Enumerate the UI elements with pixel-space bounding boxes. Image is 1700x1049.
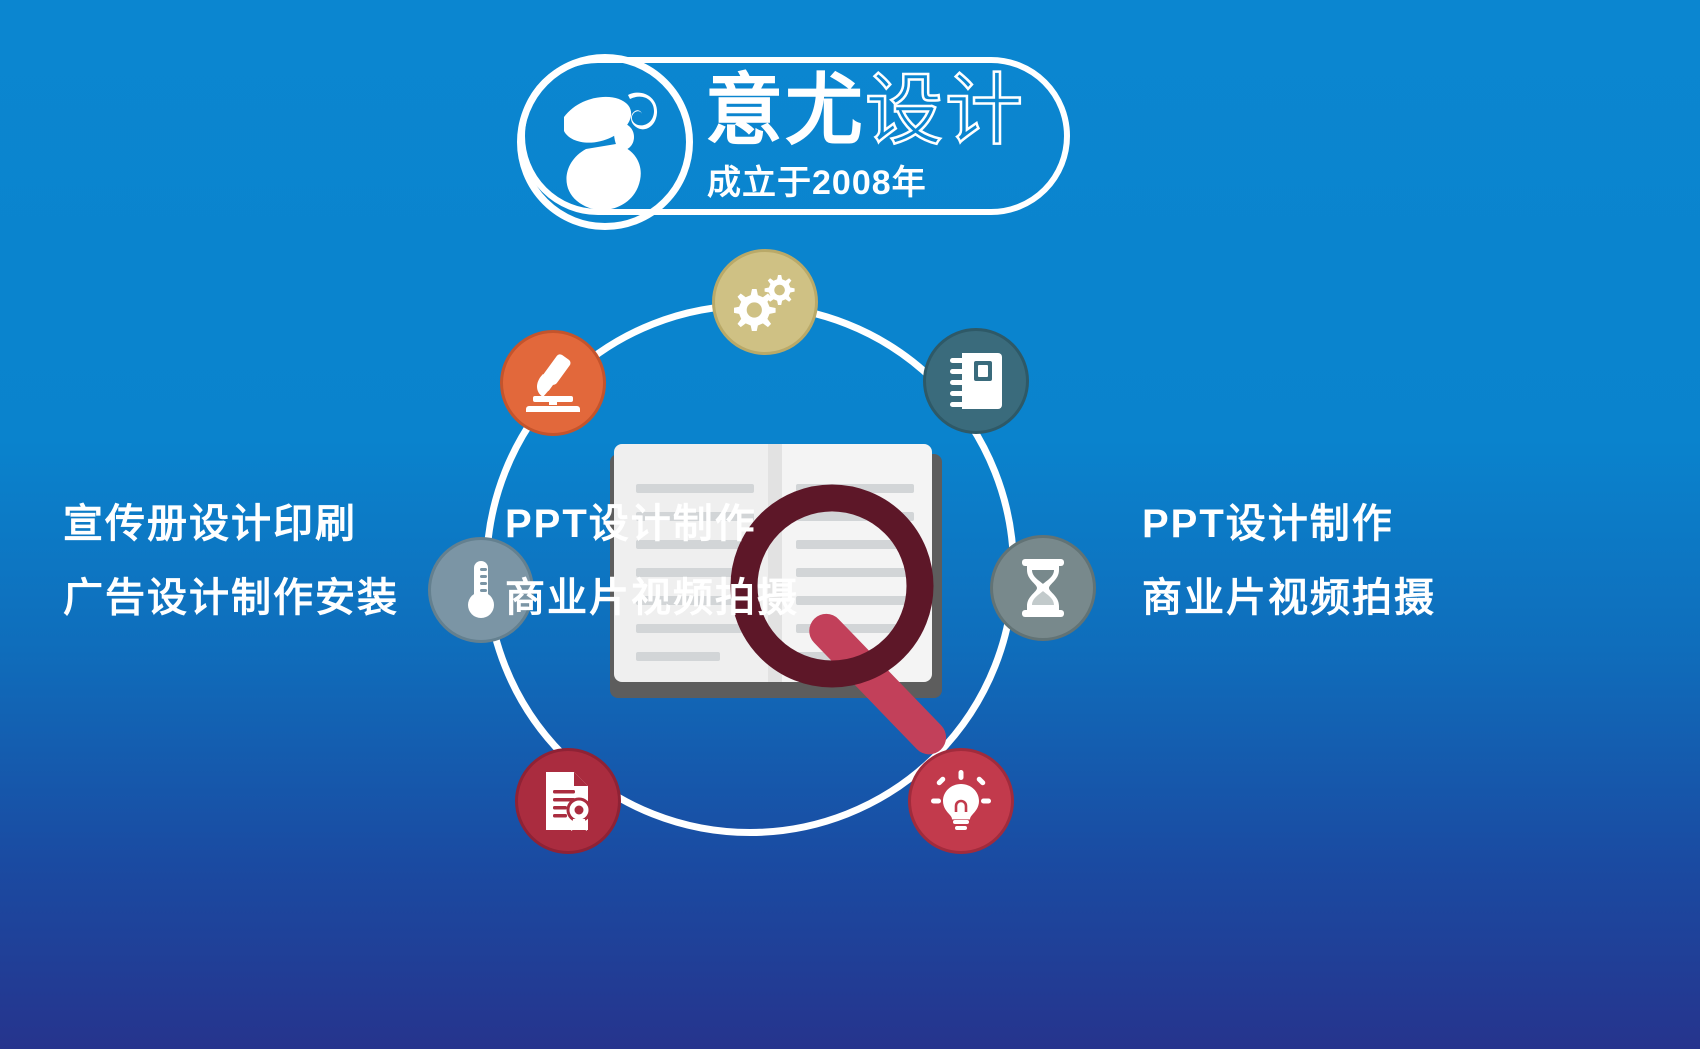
ring-icon-lightbulb[interactable] [908, 748, 1014, 854]
text-block-center: PPT设计制作 商业片视频拍摄 [505, 487, 799, 635]
text-left-line1: 宣传册设计印刷 [63, 487, 399, 561]
slide-canvas: 意尤设计 成立于2008年 [0, 0, 1700, 1049]
text-block-left: 宣传册设计印刷 广告设计制作安装 [63, 487, 399, 635]
notebook-icon [948, 351, 1004, 411]
brand-tagline: 成立于2008年 [707, 163, 927, 203]
lightbulb-icon [930, 770, 992, 832]
brand-name-solid: 意尤 [705, 66, 865, 154]
thermometer-icon [463, 559, 499, 621]
text-left-line2: 广告设计制作安装 [63, 561, 399, 635]
brand-name: 意尤设计 [705, 67, 1025, 153]
brand-name-outline: 设计 [865, 66, 1025, 154]
text-block-right: PPT设计制作 商业片视频拍摄 [1142, 487, 1436, 635]
text-center-line2: 商业片视频拍摄 [505, 561, 799, 635]
ring-icon-gears[interactable] [712, 249, 818, 355]
gears-icon [734, 273, 796, 331]
text-right-line1: PPT设计制作 [1142, 487, 1436, 561]
hourglass-icon [1018, 558, 1068, 618]
ring-icon-certificate[interactable] [515, 748, 621, 854]
logo-badge: 意尤设计 成立于2008年 [519, 57, 1070, 215]
text-center-line1: PPT设计制作 [505, 487, 799, 561]
ring-icon-microscope[interactable] [500, 330, 606, 436]
ring-icon-notebook[interactable] [923, 328, 1029, 434]
text-right-line2: 商业片视频拍摄 [1142, 561, 1436, 635]
swan-bird-mark-icon [517, 54, 693, 230]
logo-text: 意尤设计 成立于2008年 [705, 71, 1070, 213]
ring-icon-hourglass[interactable] [990, 535, 1096, 641]
microscope-icon [523, 352, 583, 414]
certificate-icon [542, 770, 594, 832]
